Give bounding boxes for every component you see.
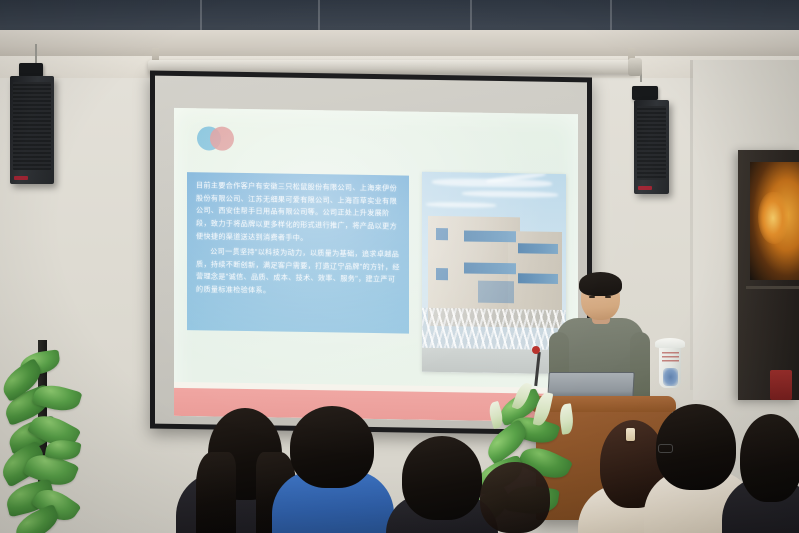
right-speaker-mount [632,86,658,100]
slide-paragraph-1: 目前主要合作客户有安徽三只松鼠股份有限公司、上海来伊份股份有限公司、江苏无细果可… [196,179,400,245]
audience-head-3 [402,436,482,520]
logo-circle-pink [210,126,234,150]
presenter-eye-left [589,296,595,298]
audience-head-6 [740,414,799,502]
wall-corner-edge [690,60,693,390]
tiger-painting [750,162,799,280]
left-speaker-arm [35,44,37,64]
two-circle-logo [197,124,237,153]
dark-display-cabinet [738,150,799,400]
audience-head-2 [290,406,374,488]
conference-room-photo: 目前主要合作客户有安徽三只松鼠股份有限公司、上海来伊份股份有限公司、江苏无细果可… [0,0,799,533]
left-speaker-mount [19,63,43,77]
podium-microphone-head [532,346,540,354]
projection-screen-frame: 目前主要合作客户有安徽三只松鼠股份有限公司、上海来伊份股份有限公司、江苏无细果可… [150,71,592,436]
presentation-slide: 目前主要合作客户有安徽三只松鼠股份有限公司、上海来伊份股份有限公司、江苏无细果可… [174,108,578,422]
left-wall-speaker [10,76,54,184]
slide-textbox: 目前主要合作客户有安徽三只松鼠股份有限公司、上海来伊份股份有限公司、江苏无细果可… [187,172,409,333]
presenter-eye-right [605,296,611,298]
factory-building-photo [422,172,566,374]
eyeglasses [658,444,673,453]
audience-head-foreground [480,462,550,533]
presenter-hair [579,272,622,296]
vase-inscription [662,352,679,364]
slide-paragraph-2: 公司一贯坚持"以科技为动力，以质量为基础，追求卓越品质，持续不断创新，满足客户需… [196,245,400,299]
porcelain-vase [655,330,685,388]
cabinet-red-object [770,370,792,400]
hair-clip [626,428,635,441]
cabinet-shelf [746,286,799,289]
screen-roller-cap [628,58,642,76]
projection-screen-surface: 目前主要合作客户有安徽三只松鼠股份有限公司、上海来伊份股份有限公司、江苏无细果可… [155,76,587,431]
right-wall-speaker [634,100,669,194]
photo-ground [422,348,566,374]
podium-top-surface [532,396,676,412]
vase-blue-pattern [663,368,678,386]
